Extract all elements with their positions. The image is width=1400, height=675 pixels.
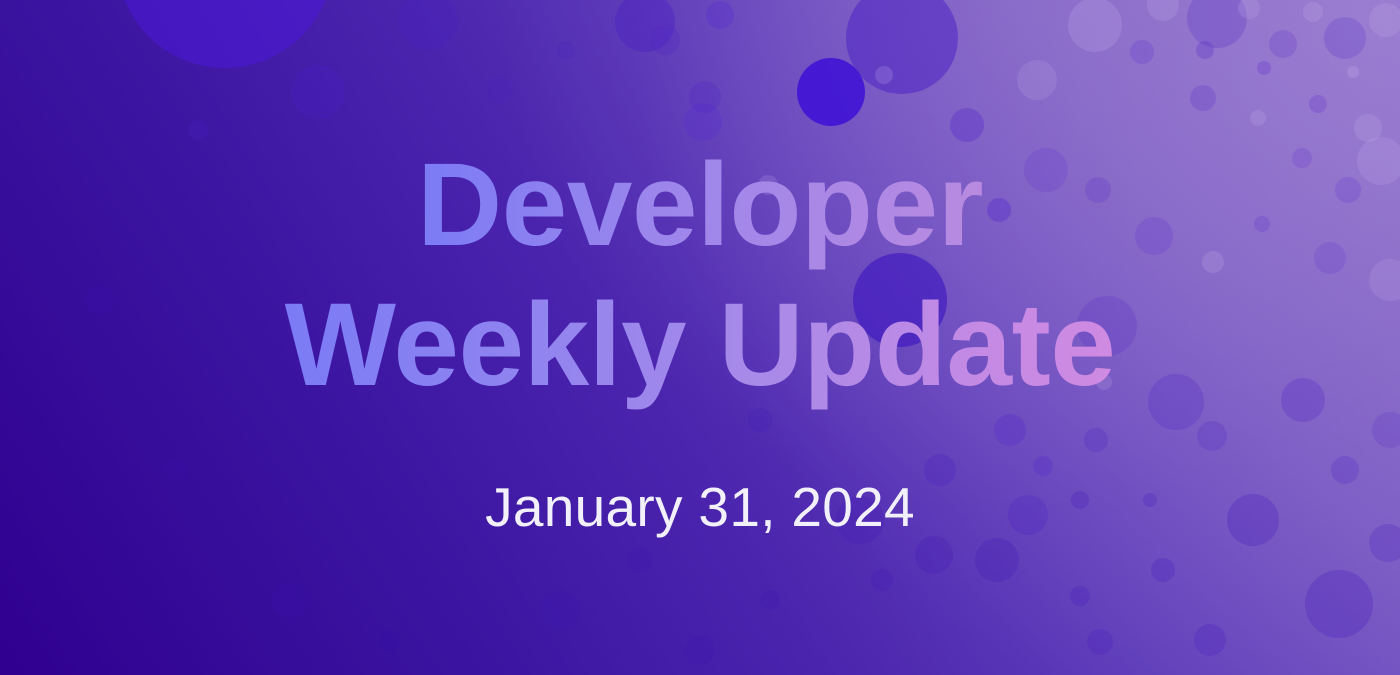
slide-content: Developer Weekly Update January 31, 2024 bbox=[0, 0, 1400, 675]
slide-date: January 31, 2024 bbox=[485, 475, 915, 539]
slide-canvas: Developer Weekly Update January 31, 2024 bbox=[0, 0, 1400, 675]
headline-line-1: Developer bbox=[417, 136, 983, 275]
headline-line-2: Weekly Update bbox=[285, 276, 1116, 415]
